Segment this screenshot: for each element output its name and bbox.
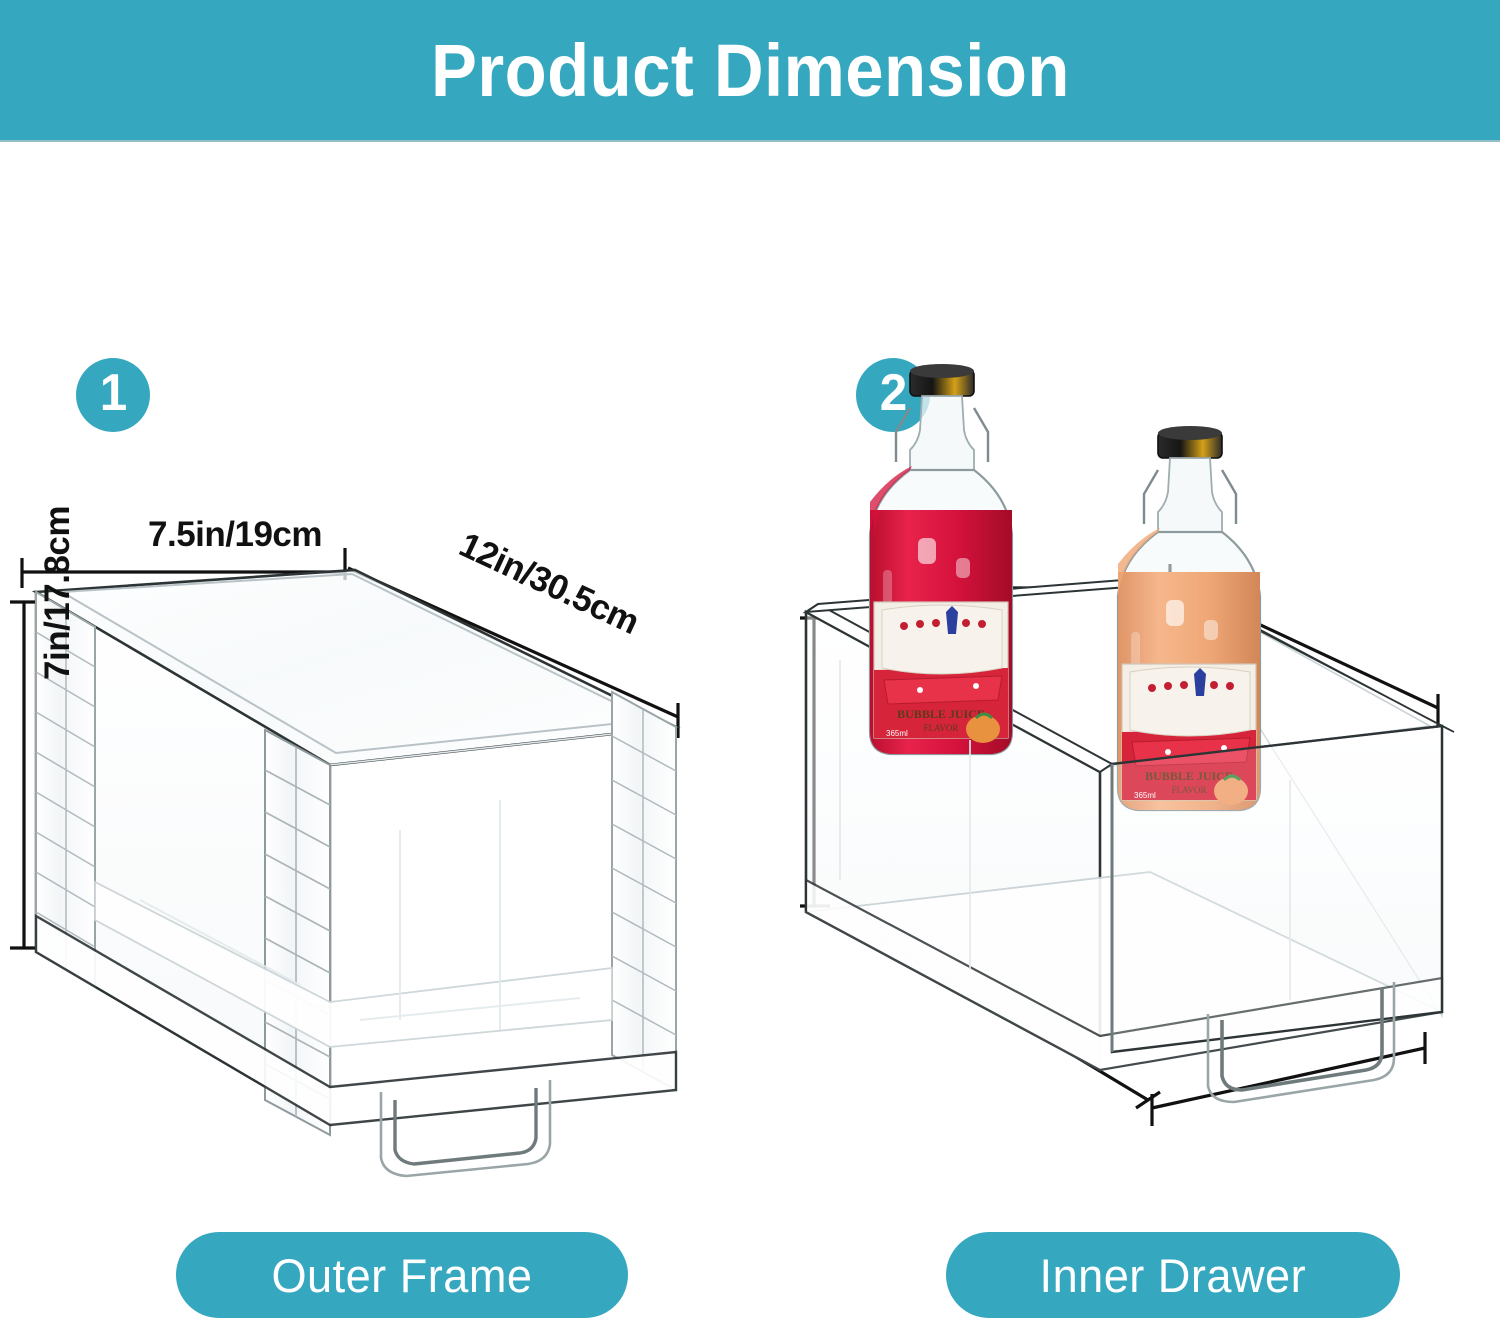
- caption-label-inner-drawer: Inner Drawer: [1040, 1248, 1307, 1303]
- product-panel-inner-drawer: 2: [770, 140, 1500, 1325]
- bottle-label-red: BUBBLE JUICE FLAVOR 365ml: [874, 602, 1008, 743]
- bottle-clamp-red: [896, 408, 910, 462]
- box-right-ribbed-rail: [612, 692, 676, 1090]
- bottle-clamp-peach: [1144, 470, 1158, 524]
- product-panel-outer-frame: 1: [0, 140, 770, 1325]
- inner-drawer-illustration: BUBBLE JUICE FLAVOR 365ml: [770, 140, 1500, 1325]
- bottle-red-juice: BUBBLE JUICE FLAVOR 365ml: [866, 364, 1018, 758]
- label-emblem-red: [946, 606, 958, 634]
- dimension-label-width: 7.5in/19cm: [148, 515, 322, 555]
- outer-frame-illustration: [0, 140, 770, 1325]
- drawer-front-wall-overlay: [1112, 726, 1442, 1052]
- header-banner: Product Dimension: [0, 0, 1500, 140]
- caption-pill-outer-frame: Outer Frame: [176, 1232, 628, 1318]
- caption-pill-inner-drawer: Inner Drawer: [946, 1232, 1400, 1318]
- bottle-neck-peach: [1158, 458, 1222, 532]
- page-title: Product Dimension: [431, 28, 1070, 113]
- label-emblem-peach: [1194, 668, 1206, 696]
- caption-label-outer-frame: Outer Frame: [271, 1248, 532, 1303]
- bottle-neck-red: [910, 396, 974, 470]
- label-subtitle-red: FLAVOR: [924, 723, 959, 733]
- label-volume-red: 365ml: [886, 729, 908, 738]
- dimension-label-height: 7in/17.8cm: [38, 506, 78, 680]
